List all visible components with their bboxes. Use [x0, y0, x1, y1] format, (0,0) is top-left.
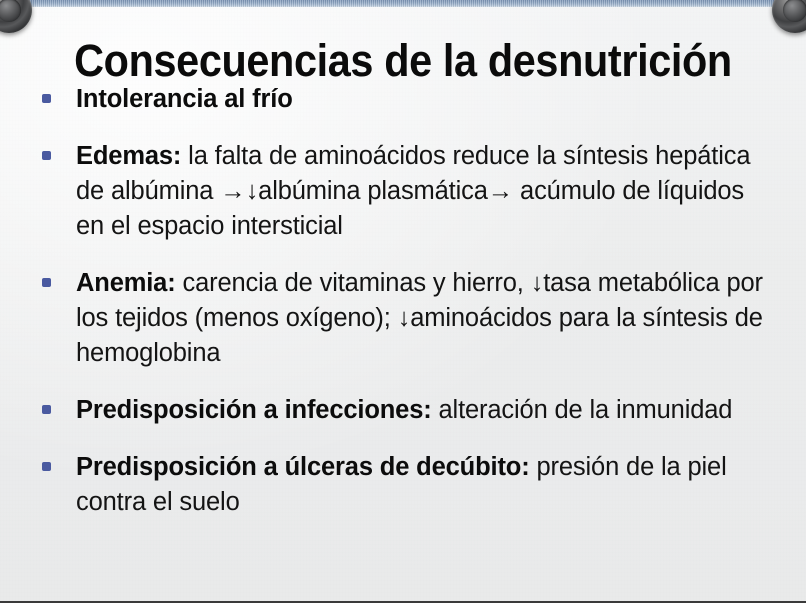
bullet-list: Intolerancia al frío Edemas: la falta de… — [34, 82, 778, 542]
list-item-text: Intolerancia al frío — [76, 82, 778, 117]
bullet-dot-icon — [42, 151, 51, 160]
top-decorative-band — [0, 0, 806, 7]
list-item: Intolerancia al frío — [34, 82, 778, 117]
list-item-text: Predisposición a úlceras de decúbito: pr… — [76, 450, 778, 520]
list-item-lead: Predisposición a infecciones: — [76, 396, 432, 424]
bullet-dot-icon — [42, 405, 51, 414]
list-item-text: Anemia: carencia de vitaminas y hierro, … — [76, 266, 778, 371]
list-item-text: Predisposición a infecciones: alteración… — [76, 393, 778, 428]
bullet-dot-icon — [42, 462, 51, 471]
list-item-lead: Intolerancia al frío — [76, 85, 293, 113]
bullet-dot-icon — [42, 278, 51, 287]
slide-canvas: Consecuencias de la desnutrición Intoler… — [0, 0, 806, 603]
list-item-rest: alteración de la inmunidad — [432, 396, 733, 424]
list-item: Predisposición a úlceras de decúbito: pr… — [34, 450, 778, 520]
list-item-lead: Edemas: — [76, 142, 181, 170]
slide-title: Consecuencias de la desnutrición — [32, 35, 774, 87]
bullet-dot-icon — [42, 94, 51, 103]
list-item-lead: Anemia: — [76, 269, 176, 297]
list-item-text: Edemas: la falta de aminoácidos reduce l… — [76, 139, 778, 244]
screw-icon-top-left — [0, 0, 32, 33]
list-item-rest: carencia de vitaminas y hierro, ↓tasa me… — [76, 269, 763, 367]
screw-icon-top-right — [772, 0, 806, 33]
list-item: Predisposición a infecciones: alteración… — [34, 393, 778, 428]
list-item: Edemas: la falta de aminoácidos reduce l… — [34, 139, 778, 244]
list-item: Anemia: carencia de vitaminas y hierro, … — [34, 266, 778, 371]
list-item-lead: Predisposición a úlceras de decúbito: — [76, 453, 530, 481]
